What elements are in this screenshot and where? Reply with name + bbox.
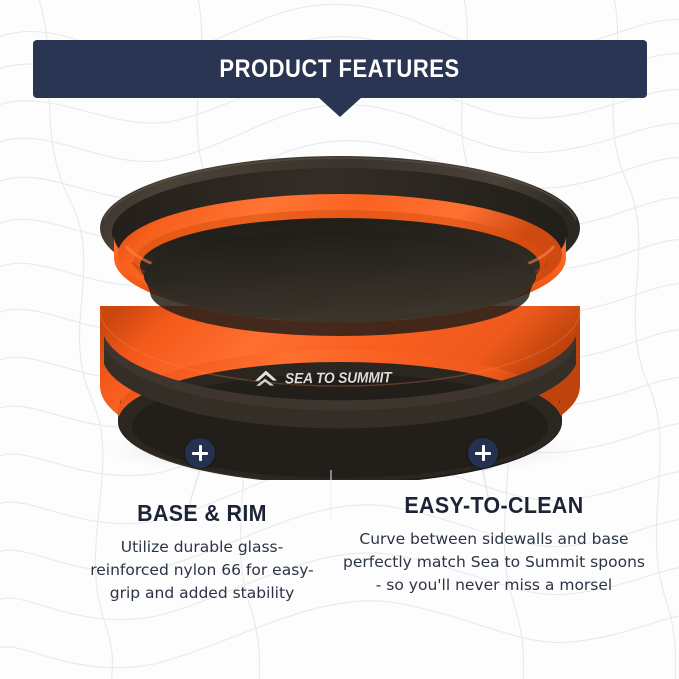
callout-badge-base-rim[interactable] bbox=[185, 438, 215, 468]
feature-body-base-rim: Utilize durable glass- reinforced nylon … bbox=[78, 536, 326, 605]
feature-body-line: Utilize durable glass- bbox=[78, 536, 326, 559]
feature-heading-easy-to-clean: EASY-TO-CLEAN bbox=[351, 492, 637, 519]
feature-heading-base-rim: BASE & RIM bbox=[87, 500, 318, 527]
banner-pointer-triangle bbox=[318, 97, 362, 117]
feature-body-line: reinforced nylon 66 for easy- bbox=[78, 559, 326, 582]
feature-easy-to-clean: EASY-TO-CLEAN Curve between sidewalls an… bbox=[340, 492, 648, 597]
product-features-infographic: PRODUCT FEATURES bbox=[0, 0, 679, 679]
plus-icon-vertical bbox=[482, 445, 485, 461]
feature-body-line: grip and added stability bbox=[78, 582, 326, 605]
callout-badge-easy-to-clean[interactable] bbox=[468, 438, 498, 468]
feature-body-easy-to-clean: Curve between sidewalls and base perfect… bbox=[340, 528, 648, 597]
feature-body-line: - so you'll never miss a morsel bbox=[340, 574, 648, 597]
product-image-bowl bbox=[0, 150, 679, 480]
plus-icon-vertical bbox=[199, 445, 202, 461]
banner-body: PRODUCT FEATURES bbox=[33, 40, 647, 98]
feature-body-line: perfectly match Sea to Summit spoons bbox=[340, 551, 648, 574]
product-features-banner: PRODUCT FEATURES bbox=[33, 40, 647, 98]
feature-base-rim: BASE & RIM Utilize durable glass- reinfo… bbox=[78, 500, 326, 605]
page-title: PRODUCT FEATURES bbox=[220, 55, 460, 84]
feature-body-line: Curve between sidewalls and base bbox=[340, 528, 648, 551]
